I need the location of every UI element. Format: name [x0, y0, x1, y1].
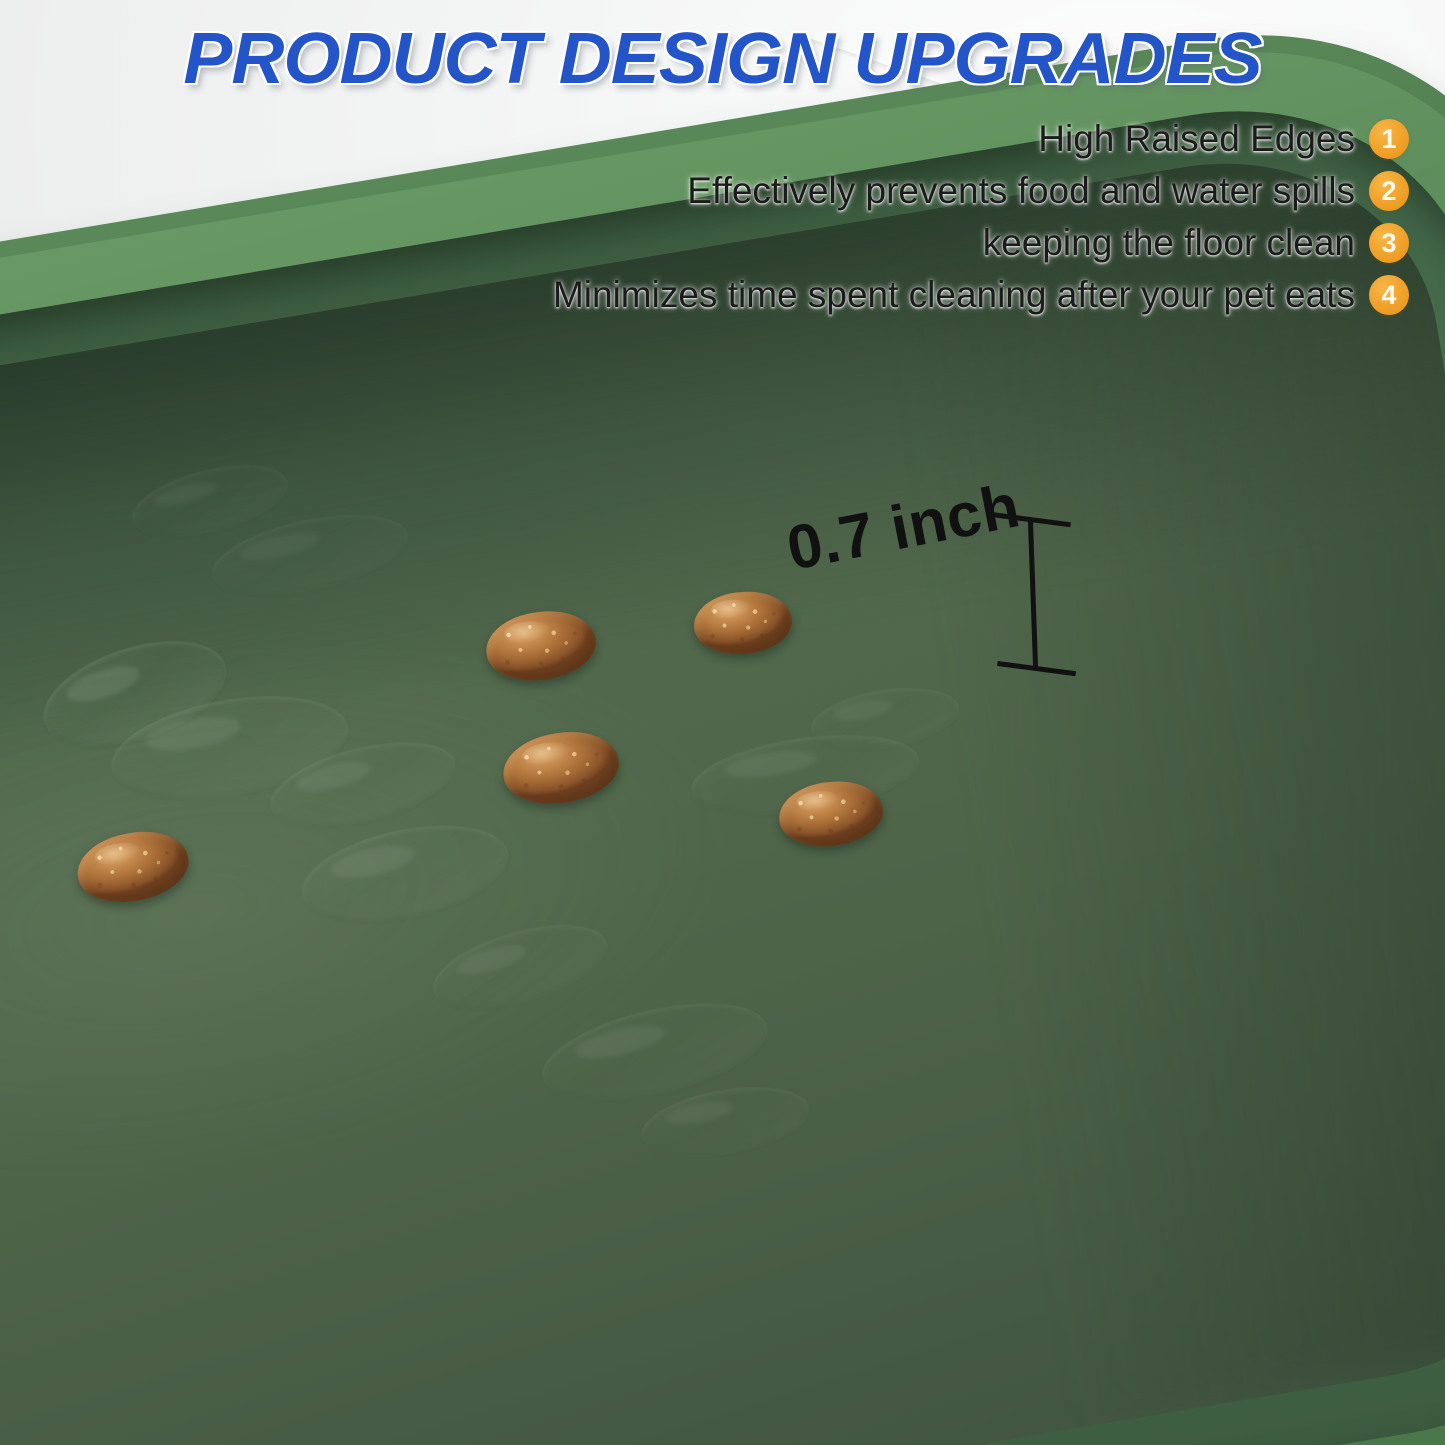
feature-label: High Raised Edges [1038, 118, 1355, 160]
product-feature-image: PRODUCT DESIGN UPGRADES High Raised Edge… [0, 0, 1445, 1445]
feature-label: Effectively prevents food and water spil… [687, 170, 1355, 212]
feature-list: High Raised Edges1Effectively prevents f… [553, 118, 1409, 316]
feature-item: High Raised Edges1 [1038, 118, 1409, 160]
feature-item: Effectively prevents food and water spil… [687, 170, 1409, 212]
page-title: PRODUCT DESIGN UPGRADES [0, 18, 1445, 100]
dimension-line-icon [990, 508, 1086, 679]
feature-number-badge: 3 [1369, 223, 1409, 263]
feature-number-badge: 4 [1369, 275, 1409, 315]
feature-item: Minimizes time spent cleaning after your… [553, 274, 1409, 316]
feature-label: Minimizes time spent cleaning after your… [553, 274, 1355, 316]
feature-label: keeping the floor clean [983, 222, 1355, 264]
feature-number-badge: 1 [1369, 119, 1409, 159]
feature-item: keeping the floor clean3 [983, 222, 1409, 264]
feature-number-badge: 2 [1369, 171, 1409, 211]
